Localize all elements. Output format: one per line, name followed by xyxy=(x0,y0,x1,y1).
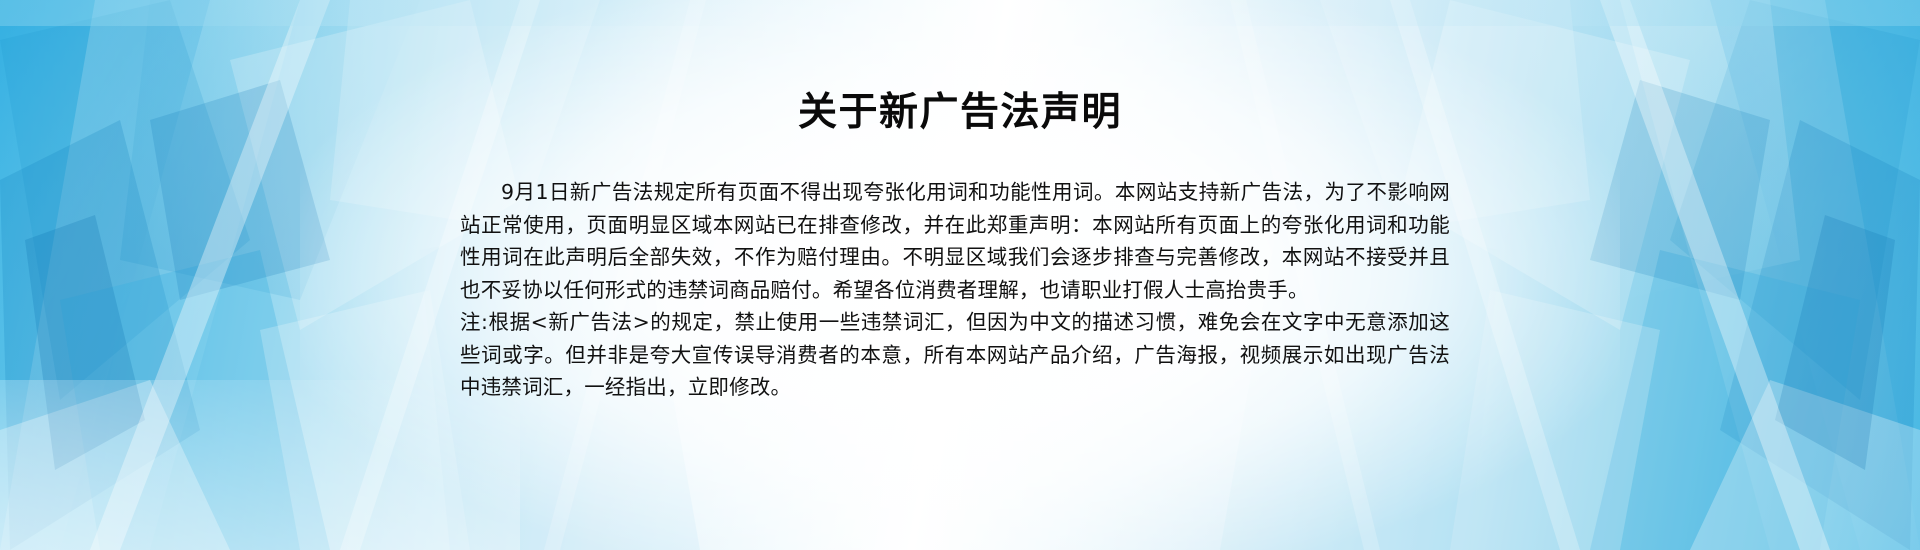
statement-paragraph-2: 注:根据<新广告法>的规定，禁止使用一些违禁词汇，但因为中文的描述习惯，难免会在… xyxy=(460,306,1450,404)
advertising-law-statement-banner: 关于新广告法声明 9月1日新广告法规定所有页面不得出现夸张化用词和功能性用词。本… xyxy=(0,0,1920,550)
page-title: 关于新广告法声明 xyxy=(0,88,1920,138)
statement-paragraph-1: 9月1日新广告法规定所有页面不得出现夸张化用词和功能性用词。本网站支持新广告法，… xyxy=(460,176,1450,306)
banner-content: 关于新广告法声明 9月1日新广告法规定所有页面不得出现夸张化用词和功能性用词。本… xyxy=(0,0,1920,550)
statement-body: 9月1日新广告法规定所有页面不得出现夸张化用词和功能性用词。本网站支持新广告法，… xyxy=(460,176,1450,404)
